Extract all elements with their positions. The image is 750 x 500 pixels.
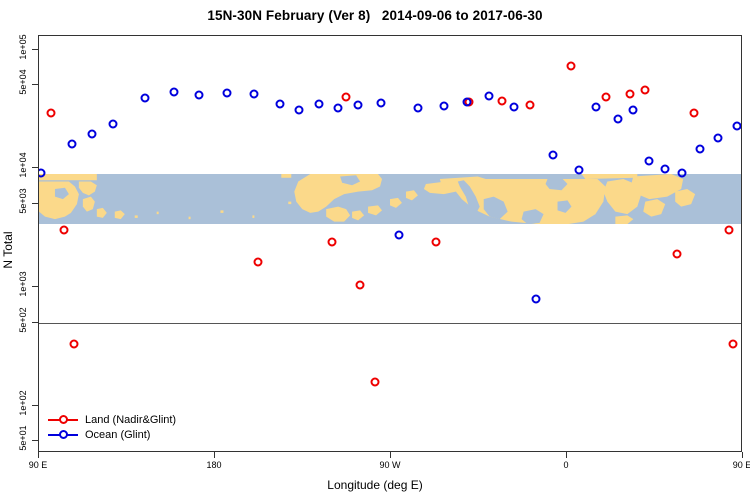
y-tick-label: 5e+04 — [18, 67, 28, 97]
data-point — [713, 133, 722, 142]
data-point — [566, 62, 575, 71]
legend-label-ocean: Ocean (Glint) — [85, 429, 150, 441]
x-tick-label: 90 W — [379, 460, 400, 470]
y-tick-label: 1e+02 — [18, 388, 28, 418]
x-tick-label: 90 E — [733, 460, 750, 470]
data-point — [314, 100, 323, 109]
data-point — [725, 225, 734, 234]
y-axis-title: N Total — [1, 220, 15, 280]
chart-screenshot: 15N-30N February (Ver 8) 2014-09-06 to 2… — [0, 0, 750, 500]
legend-item-ocean[interactable]: Ocean (Glint) — [48, 427, 176, 442]
data-point — [70, 340, 79, 349]
x-tick-mark — [38, 452, 39, 458]
x-tick-mark — [390, 452, 391, 458]
data-point — [695, 145, 704, 154]
plot-area: Land (Nadir&Glint) Ocean (Glint) — [38, 35, 742, 452]
y-tick-mark — [32, 322, 38, 323]
data-point — [463, 98, 472, 107]
data-point — [222, 89, 231, 98]
data-point — [645, 157, 654, 166]
data-point — [641, 85, 650, 94]
data-point — [498, 96, 507, 105]
data-point — [602, 92, 611, 101]
y-tick-mark — [32, 405, 38, 406]
data-point — [250, 90, 259, 99]
y-tick-mark — [32, 167, 38, 168]
legend-marker-ocean-icon — [48, 429, 78, 440]
x-tick-mark — [214, 452, 215, 458]
y-tick-label: 1e+03 — [18, 269, 28, 299]
data-point — [275, 99, 284, 108]
y-tick-label: 5e+01 — [18, 423, 28, 453]
legend-item-land[interactable]: Land (Nadir&Glint) — [48, 412, 176, 427]
data-point — [672, 249, 681, 258]
y-tick-label: 5e+03 — [18, 186, 28, 216]
data-point — [625, 90, 634, 99]
x-tick-label: 0 — [563, 460, 568, 470]
data-point — [355, 281, 364, 290]
data-point — [525, 101, 534, 110]
y-tick-label: 1e+04 — [18, 150, 28, 180]
data-point — [195, 90, 204, 99]
data-point — [592, 102, 601, 111]
data-point — [68, 140, 77, 149]
y-tick-mark — [32, 49, 38, 50]
legend-label-land: Land (Nadir&Glint) — [85, 414, 176, 426]
data-point — [353, 101, 362, 110]
data-point — [613, 114, 622, 123]
x-tick-mark — [566, 452, 567, 458]
y-tick-mark — [32, 440, 38, 441]
data-point — [371, 377, 380, 386]
data-point — [377, 98, 386, 107]
data-point — [295, 105, 304, 114]
x-axis-title: Longitude (deg E) — [0, 478, 750, 492]
data-point — [439, 101, 448, 110]
world-map-band-overlay — [39, 174, 741, 224]
data-point — [334, 104, 343, 113]
data-point — [660, 165, 669, 174]
y-tick-mark — [32, 203, 38, 204]
data-point — [60, 225, 69, 234]
data-point — [414, 104, 423, 113]
y-tick-mark — [32, 84, 38, 85]
data-point — [328, 237, 337, 246]
data-point — [87, 129, 96, 138]
data-point — [678, 168, 687, 177]
data-point — [109, 120, 118, 129]
data-point — [484, 91, 493, 100]
data-point — [733, 122, 742, 131]
chart-title: 15N-30N February (Ver 8) 2014-09-06 to 2… — [0, 8, 750, 23]
data-point — [342, 92, 351, 101]
data-point — [690, 109, 699, 118]
data-point — [46, 109, 55, 118]
data-point — [169, 87, 178, 96]
data-point — [431, 237, 440, 246]
data-point — [510, 103, 519, 112]
y-tick-label: 5e+02 — [18, 305, 28, 335]
y-tick-label: 1e+05 — [18, 32, 28, 62]
x-tick-label: 90 E — [29, 460, 48, 470]
world-map-svg — [39, 174, 741, 224]
x-tick-mark — [742, 452, 743, 458]
data-point — [140, 94, 149, 103]
data-point — [729, 340, 738, 349]
legend-marker-land-icon — [48, 414, 78, 425]
x-tick-label: 180 — [206, 460, 221, 470]
data-point — [531, 294, 540, 303]
data-point — [549, 150, 558, 159]
data-point — [254, 258, 263, 267]
reference-line-5e02 — [39, 323, 741, 324]
data-point — [394, 230, 403, 239]
data-point — [629, 105, 638, 114]
legend: Land (Nadir&Glint) Ocean (Glint) — [45, 409, 182, 445]
data-point — [574, 166, 583, 175]
y-tick-mark — [32, 286, 38, 287]
